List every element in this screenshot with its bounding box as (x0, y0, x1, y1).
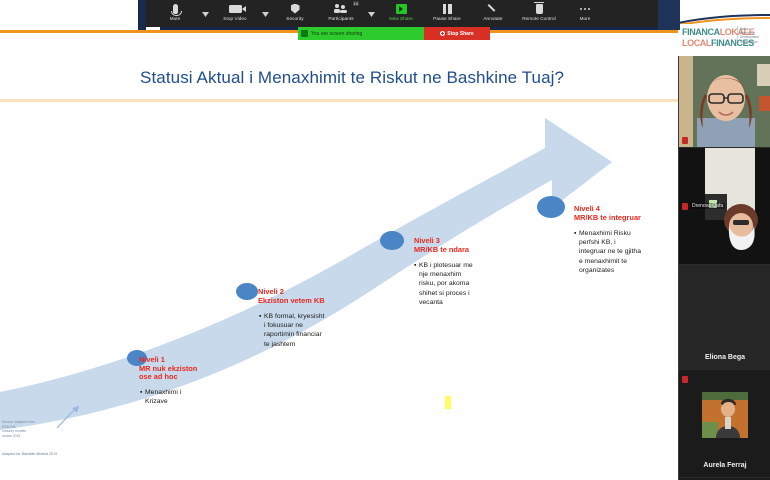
avatar-photo-image (702, 392, 748, 438)
new-share-button[interactable]: New Share (378, 2, 424, 27)
participant-tile-2[interactable]: Drenova Qafa (679, 148, 770, 265)
participants-icon (335, 2, 348, 15)
more-button[interactable]: More (562, 2, 608, 27)
level-1-body-line2: Krizave (140, 397, 181, 406)
footer-source: Adapted for Bashkite Albania 2019 (2, 452, 132, 457)
window-frame-left (138, 0, 146, 30)
level-3-dot (380, 231, 404, 250)
pause-share-button-label: Pause Share (433, 16, 461, 22)
shield-icon (291, 2, 300, 15)
footer-note: Source: Adapted from ERM risk maturity m… (2, 420, 122, 438)
pause-share-button[interactable]: Pause Share (424, 2, 470, 27)
level-1-heading: Niveli 1 MR nuk ekziston ose ad hoc (139, 356, 197, 382)
level-4-body-line5: organizates (574, 266, 641, 275)
participants-options-chevron-down-icon[interactable] (364, 2, 378, 27)
level-2-heading-line2: Ekziston vetem KB (258, 297, 325, 306)
level-4-body-line3: integruar ne te gjitha (574, 247, 641, 256)
screen-share-icon (396, 2, 407, 15)
level-2-heading: Niveli 2 Ekziston vetem KB (258, 288, 325, 305)
avatar (702, 392, 748, 438)
level-1-heading-line3: ose ad hoc (139, 373, 197, 382)
video-gallery-strip[interactable]: Drenova Qafa Eliona Bega Aurela Ferraj (678, 56, 770, 480)
level-3-body-line5: vecanta (414, 298, 473, 307)
logo-subtext-line3: Development (740, 35, 759, 39)
level-3-heading-line2: MR/KB te ndara (414, 246, 469, 255)
window-frame-right (658, 0, 680, 30)
mic-muted-icon-1 (682, 137, 688, 144)
level-4-heading-line2: MR/KB te integruar (574, 214, 641, 223)
video-camera-icon (229, 2, 242, 15)
mic-muted-icon-4 (682, 376, 688, 383)
level-2-body-line2: i fokusuar ne (259, 321, 324, 330)
microphone-icon (173, 2, 178, 15)
stop-share-button-label: Stop Share (447, 31, 473, 37)
stop-video-button-label: Stop Video (223, 16, 246, 22)
slide-title: Statusi Aktual i Menaxhimit te Riskut ne… (140, 68, 640, 88)
more-button-label: More (580, 16, 591, 22)
stop-share-button[interactable]: Stop Share (424, 27, 490, 40)
participant-tile-3[interactable]: Eliona Bega (679, 265, 770, 370)
participant-tile-4[interactable]: Aurela Ferraj (679, 370, 770, 478)
stop-share-icon (440, 31, 445, 36)
participants-button-label: Participants (328, 16, 353, 22)
more-dots-icon (580, 2, 590, 15)
annotate-button-label: Annotate (483, 16, 502, 22)
audio-options-chevron-down-icon[interactable] (198, 2, 212, 27)
participant-name-2: Drenova Qafa (690, 203, 725, 209)
annotate-button[interactable]: Annotate (470, 2, 516, 27)
screen-share-window: Statusi Aktual i Menaxhimit te Riskut ne… (0, 0, 770, 480)
level-2-body-line1: ▪KB formal, kryesisht (259, 312, 324, 321)
participants-button[interactable]: 14 Participants (318, 2, 364, 27)
level-3-heading: Niveli 3 MR/KB te ndara (414, 237, 469, 254)
video-options-chevron-down-icon[interactable] (258, 2, 272, 27)
pencil-icon (488, 2, 499, 15)
yellow-highlight-marker (445, 396, 451, 409)
logo-panel: FINANCALOKALE LOCALFINANCES Swiss Agency… (678, 0, 770, 56)
new-share-button-label: New Share (389, 16, 413, 22)
level-4-body-line4: e menaxhimit te (574, 257, 641, 266)
level-1-body-line1: ▪Menaxhimi i (140, 388, 181, 397)
mic-muted-icon-2 (682, 203, 688, 210)
level-2-dot (236, 283, 258, 300)
security-button-label: Security (286, 16, 303, 22)
level-3-body: ▪KB i plotesuar me nje menaxhim risku, p… (414, 261, 473, 307)
sharing-indicator-icon (301, 30, 308, 37)
level-3-body-line4: shihet si proces i (414, 289, 473, 298)
remote-control-icon (536, 2, 543, 15)
stop-video-button[interactable]: Stop Video (212, 2, 258, 27)
security-button[interactable]: Security (272, 2, 318, 27)
level-2-body-line4: te jashtem (259, 340, 324, 349)
participant-name-4: Aurela Ferraj (701, 462, 748, 469)
logo-subtext: Swiss Agency for Development Cooperation (740, 27, 759, 44)
remote-control-button-label: Remote Control (522, 16, 556, 22)
footer-note-line4: review 2015 (2, 434, 122, 439)
participants-count-badge: 14 (353, 1, 359, 6)
participant-tile-1[interactable] (679, 56, 770, 148)
participant-name-3: Eliona Bega (703, 354, 747, 361)
participant-video-feed-1 (679, 56, 770, 148)
level-4-dot (537, 196, 565, 218)
level-4-body: ▪Menaxhimi Risku perfshi KB, i integruar… (574, 229, 641, 275)
level-2-body-line3: raportimin financiar (259, 330, 324, 339)
level-4-body-line1: ▪Menaxhimi Risku (574, 229, 641, 238)
level-2-body: ▪KB formal, kryesisht i fokusuar ne rapo… (259, 312, 324, 349)
logo-swoosh-graphic (678, 14, 770, 24)
level-3-body-line1: ▪KB i plotesuar me (414, 261, 473, 270)
zoom-meeting-toolbar[interactable]: Mute Stop Video Security 14 Participants… (146, 0, 658, 27)
level-1-body: ▪Menaxhimi i Krizave (140, 388, 181, 406)
mute-button-label: Mute (170, 16, 181, 22)
level-4-heading: Niveli 4 MR/KB te integruar (574, 205, 641, 222)
level-3-body-line2: nje menaxhim (414, 270, 473, 279)
shared-slide: Statusi Aktual i Menaxhimit te Riskut ne… (0, 0, 680, 480)
pause-icon (443, 2, 452, 15)
mute-button[interactable]: Mute (152, 2, 198, 27)
level-4-body-line2: perfshi KB, i (574, 238, 641, 247)
level-3-body-line3: risku, por akoma (414, 279, 473, 288)
remote-control-button[interactable]: Remote Control (516, 2, 562, 27)
logo-subtext-line4: Cooperation (740, 40, 759, 44)
